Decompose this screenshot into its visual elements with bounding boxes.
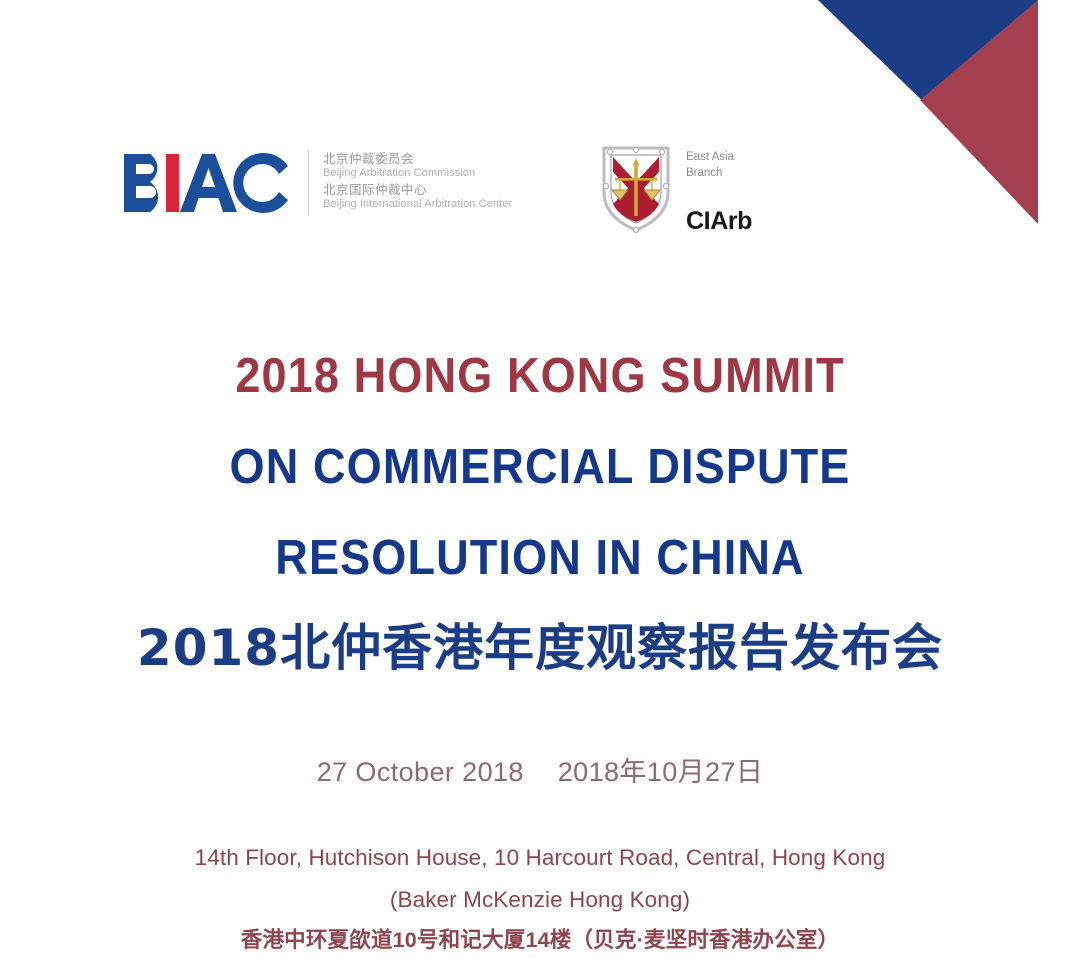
ciarb-branch-line-1: East Asia — [686, 150, 752, 166]
title-line-3: RESOLUTION IN CHINA — [43, 534, 1037, 583]
title-chinese: 2018北仲香港年度观察报告发布会 — [0, 620, 1080, 678]
logo-divider — [308, 150, 309, 216]
ciarb-text-block: East Asia Branch CIArb — [686, 142, 752, 236]
venue-address-chinese: 香港中环夏欿道10号和记大厦14楼（贝克·麦坚时香港办公室） — [0, 925, 1080, 956]
event-title-block: 2018 HONG KONG SUMMIT ON COMMERCIAL DISP… — [0, 352, 1080, 583]
poster-canvas: 北京仲裁委员会 Beijing Arbitration Commission 北… — [0, 0, 1080, 965]
title-line-1: 2018 HONG KONG SUMMIT — [43, 352, 1037, 401]
ciarb-branch-line-2: Branch — [686, 166, 752, 182]
venue-host-english: (Baker McKenzie Hong Kong) — [0, 884, 1080, 917]
ciarb-wordmark: CIArb — [686, 207, 752, 236]
venue-address-english: 14th Floor, Hutchison House, 10 Harcourt… — [0, 842, 1080, 875]
biac-name-en-1: Beijing Arbitration Commission — [323, 167, 512, 180]
biac-organisation-names: 北京仲裁委员会 Beijing Arbitration Commission 北… — [323, 152, 512, 213]
biac-logo-lockup: 北京仲裁委员会 Beijing Arbitration Commission 北… — [120, 148, 512, 218]
event-date-line: 27 October 2018 2018年10月27日 — [0, 750, 1080, 789]
venue-block: 14th Floor, Hutchison House, 10 Harcourt… — [0, 842, 1080, 956]
biac-wordmark-icon — [120, 148, 292, 218]
title-line-2: ON COMMERCIAL DISPUTE — [43, 443, 1037, 492]
biac-name-cn-2: 北京国际仲裁中心 — [323, 183, 512, 198]
biac-name-cn-1: 北京仲裁委员会 — [323, 152, 512, 167]
ciarb-shield-icon — [600, 142, 672, 234]
ciarb-logo-lockup: East Asia Branch CIArb — [600, 142, 752, 236]
logo-row: 北京仲裁委员会 Beijing Arbitration Commission 北… — [0, 140, 1080, 250]
event-date-chinese: 2018年10月27日 — [558, 757, 764, 787]
blue-triangle — [818, 0, 1038, 112]
event-date-english: 27 October 2018 — [317, 757, 524, 787]
biac-name-en-2: Beijing International Arbitration Center — [323, 198, 512, 211]
